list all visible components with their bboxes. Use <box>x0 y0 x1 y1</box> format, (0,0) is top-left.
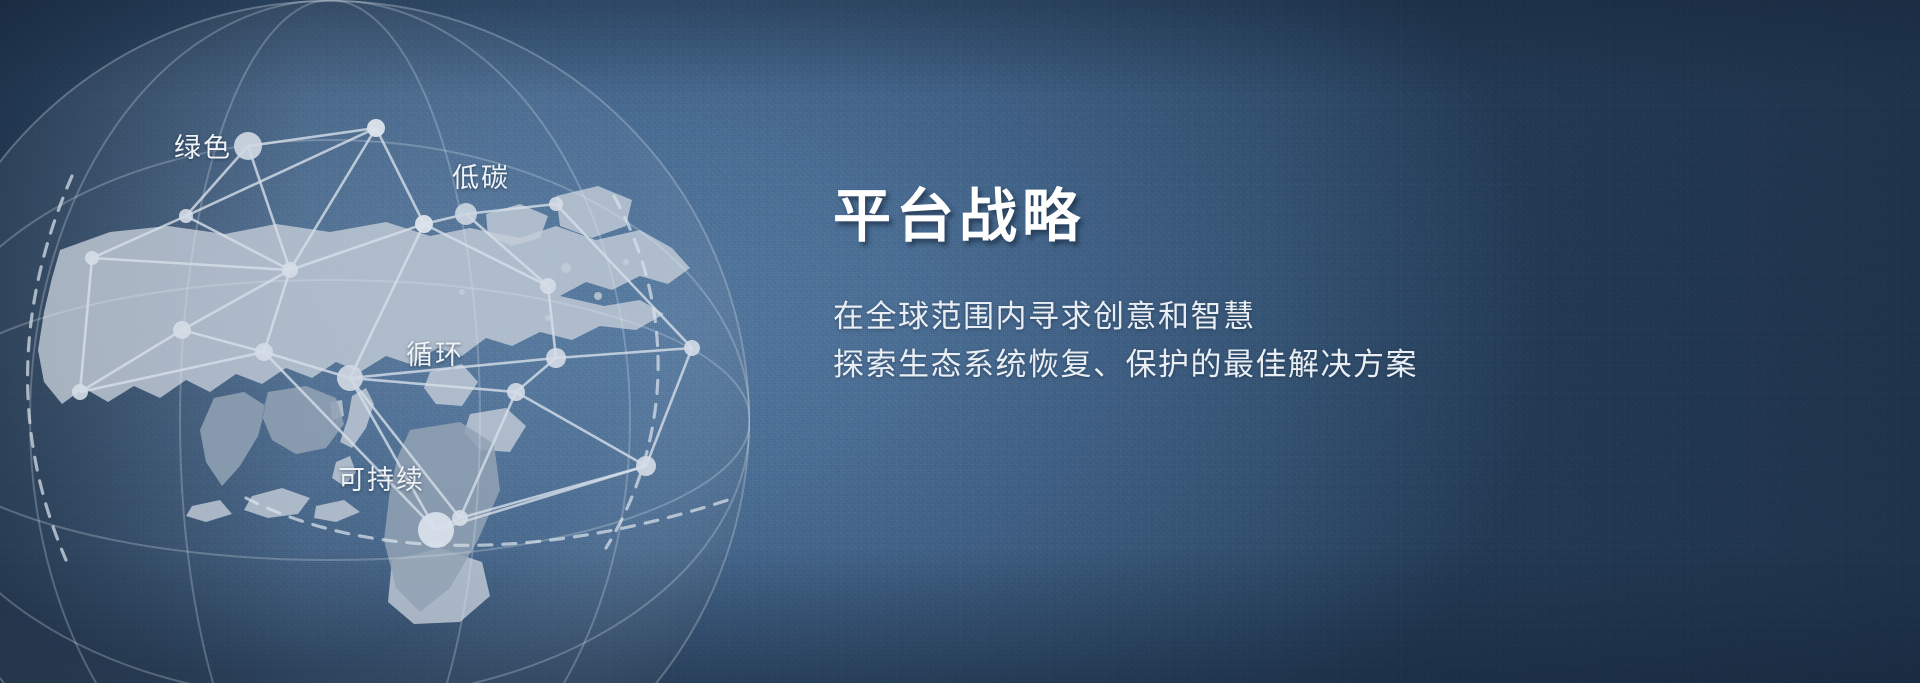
hero-headline: 平台战略 <box>833 186 1733 247</box>
network-label-low-carbon: 低碳 <box>452 156 510 195</box>
hero-copy-block: 平台战略 在全球范围内寻求创意和智慧 探索生态系统恢复、保护的最佳解决方案 <box>833 186 1733 388</box>
hero-banner: 绿色 低碳 循环 可持续 平台战略 在全球范围内寻求创意和智慧 探索生态系统恢复… <box>0 0 1920 683</box>
network-label-circular: 循环 <box>406 333 464 372</box>
network-label-sustainable: 可持续 <box>338 458 425 497</box>
hero-subtitle-line-2: 探索生态系统恢复、保护的最佳解决方案 <box>833 342 1733 388</box>
network-label-green: 绿色 <box>174 126 232 165</box>
hero-subtitle-line-1: 在全球范围内寻求创意和智慧 <box>833 294 1733 340</box>
